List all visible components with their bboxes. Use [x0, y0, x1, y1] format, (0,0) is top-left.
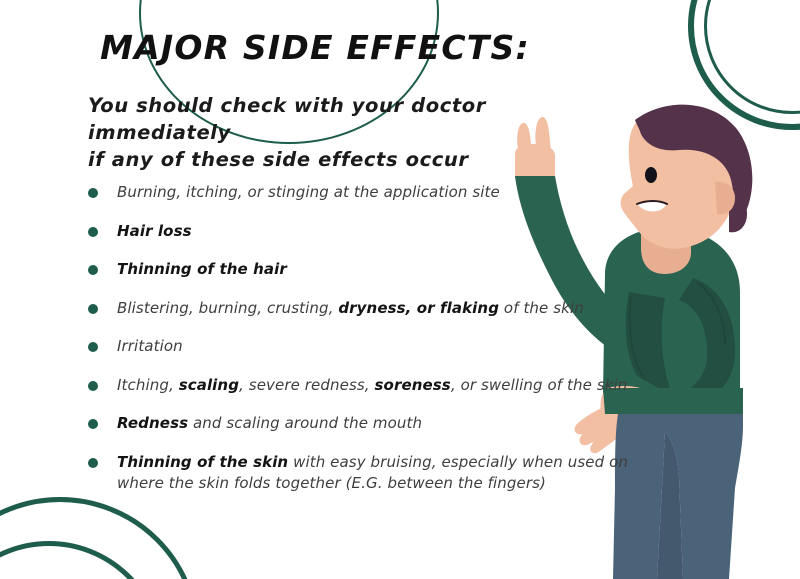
bullet-dot-icon — [88, 381, 98, 391]
emphasis-text: soreness — [375, 376, 451, 394]
body-text: , severe redness, — [239, 376, 374, 394]
bullet-dot-icon — [88, 188, 98, 198]
list-item-label: Hair loss — [117, 221, 192, 242]
decorative-arc-bottom-left-inner — [0, 541, 164, 579]
list-item: Hair loss — [88, 221, 648, 242]
body-text: and scaling around the mouth — [188, 414, 422, 432]
list-item: Redness and scaling around the mouth — [88, 413, 648, 434]
list-item-label: Burning, itching, or stinging at the app… — [117, 182, 500, 203]
emphasis-text: Thinning of the skin — [117, 453, 288, 471]
body-text: , or swelling of the skin — [451, 376, 628, 394]
bullet-dot-icon — [88, 227, 98, 237]
list-item: Thinning of the hair — [88, 259, 648, 280]
body-text: of the skin — [499, 299, 584, 317]
list-item-label: Redness and scaling around the mouth — [117, 413, 422, 434]
poster-canvas: MAJOR SIDE EFFECTS: You should check wit… — [0, 0, 800, 579]
body-text: Irritation — [117, 337, 183, 355]
body-text: Blistering, burning, crusting, — [117, 299, 338, 317]
bullet-dot-icon — [88, 458, 98, 468]
emphasis-text: Thinning of the hair — [117, 260, 287, 278]
list-item: Blistering, burning, crusting, dryness, … — [88, 298, 648, 319]
list-item: Thinning of the skin with easy bruising,… — [88, 452, 648, 494]
page-title: MAJOR SIDE EFFECTS: — [0, 28, 630, 67]
emphasis-text: dryness, or flaking — [338, 299, 499, 317]
emphasis-text: Redness — [117, 414, 188, 432]
body-text: Itching, — [117, 376, 179, 394]
list-item-label: Thinning of the skin with easy bruising,… — [117, 452, 648, 494]
bullet-dot-icon — [88, 342, 98, 352]
subtitle: You should check with your doctor immedi… — [88, 92, 608, 173]
subtitle-line-2: if any of these side effects occur — [88, 146, 608, 173]
list-item-label: Itching, scaling, severe redness, sorene… — [117, 375, 627, 396]
bullet-dot-icon — [88, 265, 98, 275]
list-item: Burning, itching, or stinging at the app… — [88, 182, 648, 203]
list-item: Irritation — [88, 336, 648, 357]
emphasis-text: Hair loss — [117, 222, 192, 240]
bullet-dot-icon — [88, 419, 98, 429]
subtitle-line-1: You should check with your doctor immedi… — [88, 92, 608, 146]
emphasis-text: scaling — [179, 376, 239, 394]
list-item-label: Blistering, burning, crusting, dryness, … — [117, 298, 584, 319]
body-text: Burning, itching, or stinging at the app… — [117, 183, 500, 201]
list-item-label: Thinning of the hair — [117, 259, 287, 280]
bullet-dot-icon — [88, 304, 98, 314]
list-item-label: Irritation — [117, 336, 183, 357]
side-effects-list: Burning, itching, or stinging at the app… — [88, 182, 648, 511]
list-item: Itching, scaling, severe redness, sorene… — [88, 375, 648, 396]
